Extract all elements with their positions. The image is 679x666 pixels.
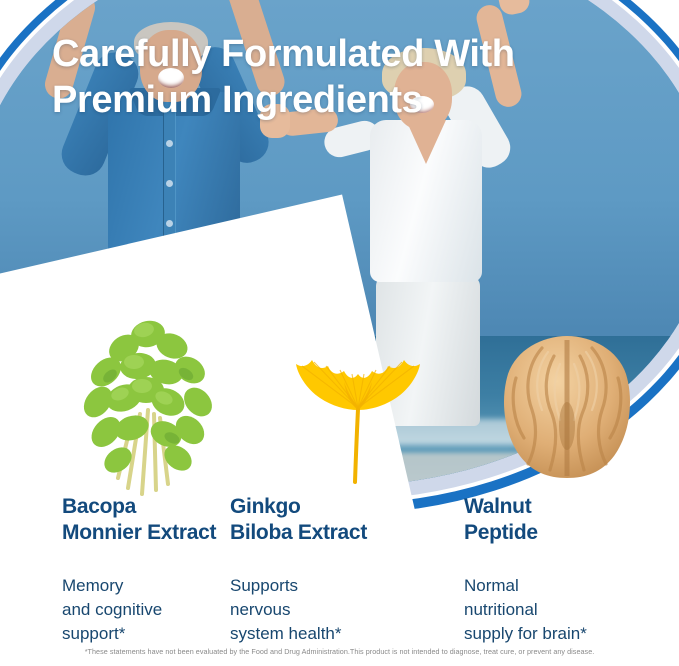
ingredient-benefit: Normal nutritional supply for brain* xyxy=(464,574,679,646)
ingredient-benefit: Memory and cognitive support* xyxy=(62,574,226,646)
ingredient-benefit: Supports nervous system health* xyxy=(230,574,452,646)
ginkgo-leaf-image xyxy=(288,326,428,484)
page-title: Carefully Formulated With Premium Ingred… xyxy=(52,32,612,124)
ingredient-banner: Carefully Formulated With Premium Ingred… xyxy=(0,0,679,666)
fda-disclaimer: *These statements have not been evaluate… xyxy=(0,648,679,657)
walnut-kernel-image xyxy=(494,330,640,482)
ingredient-column-ginkgo: Ginkgo Biloba Extract Supports nervous s… xyxy=(226,494,452,646)
ingredient-columns: Bacopa Monnier Extract Memory and cognit… xyxy=(0,494,679,646)
ingredient-column-bacopa: Bacopa Monnier Extract Memory and cognit… xyxy=(0,494,226,646)
ingredient-title: Bacopa Monnier Extract xyxy=(62,494,226,546)
ingredient-title: Ginkgo Biloba Extract xyxy=(230,494,452,546)
ingredient-column-walnut: Walnut Peptide Normal nutritional supply… xyxy=(452,494,679,646)
bacopa-sprout-image xyxy=(62,318,232,498)
ingredient-title: Walnut Peptide xyxy=(464,494,679,546)
